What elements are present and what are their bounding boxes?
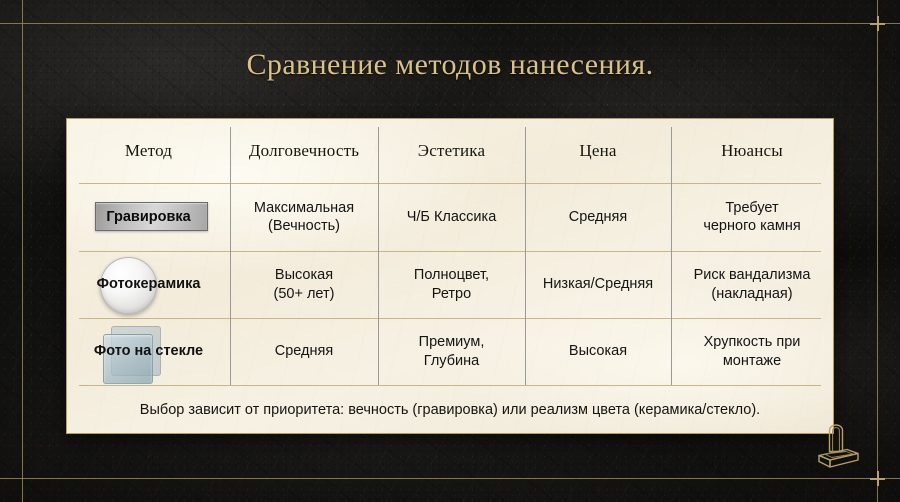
notes-line-2: черного камня — [703, 217, 800, 235]
aesthetics-cell: Ч/Б Классика — [378, 183, 525, 251]
table-footer-note: Выбор зависит от приоритета: вечность (г… — [67, 402, 833, 418]
column-header-notes: Нюансы — [671, 119, 833, 183]
price-cell: Средняя — [525, 183, 671, 251]
aesthetics-line-1: Полноцвет, — [414, 266, 489, 284]
method-cell-photoceramic: Фотокерамика — [67, 251, 230, 318]
frame-line-bottom — [0, 478, 900, 479]
aesthetics-line-1: Премиум, — [419, 333, 485, 351]
aesthetics-cell: Полноцвет, Ретро — [378, 251, 525, 318]
aesthetics-line-1: Ч/Б Классика — [407, 208, 497, 226]
price-cell: Низкая/Средняя — [525, 251, 671, 318]
column-header-aesthetics: Эстетика — [378, 119, 525, 183]
table-row: Гравировка Максимальная (Вечность) Ч/Б К… — [67, 183, 833, 251]
notes-cell: Риск вандализма (накладная) — [671, 251, 833, 318]
frame-line-top — [0, 23, 900, 24]
comparison-table-card: Метод Долговечность Эстетика Цена Нюансы… — [66, 118, 834, 434]
durability-line-1: Средняя — [275, 342, 333, 360]
durability-cell: Средняя — [230, 318, 378, 385]
notes-line-2: (накладная) — [694, 285, 811, 303]
table-header-row: Метод Долговечность Эстетика Цена Нюансы — [67, 119, 833, 183]
notes-line-1: Риск вандализма — [694, 266, 811, 284]
page-title: Сравнение методов нанесения. — [0, 48, 900, 82]
durability-line-2: (Вечность) — [254, 217, 354, 235]
method-cell-engraving: Гравировка — [67, 183, 230, 251]
aesthetics-line-2: Глубина — [419, 352, 485, 370]
plus-cross-marker-icon-bottom-right — [870, 471, 885, 486]
aesthetics-cell: Премиум, Глубина — [378, 318, 525, 385]
method-label: Фото на стекле — [94, 342, 203, 360]
method-label: Гравировка — [106, 208, 190, 226]
comparison-table: Метод Долговечность Эстетика Цена Нюансы… — [67, 119, 833, 433]
notes-cell: Требует черного камня — [671, 183, 833, 251]
notes-line-1: Хрупкость при — [704, 333, 801, 351]
durability-line-1: Максимальная — [254, 199, 354, 217]
durability-cell: Максимальная (Вечность) — [230, 183, 378, 251]
durability-line-1: Высокая — [274, 266, 335, 284]
notes-cell: Хрупкость при монтаже — [671, 318, 833, 385]
method-label: Фотокерамика — [97, 275, 201, 293]
price-cell: Высокая — [525, 318, 671, 385]
slide-canvas: Сравнение методов нанесения. Метод Долго… — [0, 0, 900, 502]
table-row: Фото на стекле Средняя Премиум, Глубина … — [67, 318, 833, 385]
notes-line-1: Требует — [703, 199, 800, 217]
column-header-price: Цена — [525, 119, 671, 183]
column-header-method: Метод — [67, 119, 230, 183]
table-row: Фотокерамика Высокая (50+ лет) Полноцвет… — [67, 251, 833, 318]
aesthetics-line-2: Ретро — [414, 285, 489, 303]
durability-cell: Высокая (50+ лет) — [230, 251, 378, 318]
durability-line-2: (50+ лет) — [274, 285, 335, 303]
table-footer-row: Выбор зависит от приоритета: вечность (г… — [67, 385, 833, 434]
notes-line-2: монтаже — [704, 352, 801, 370]
plus-cross-marker-icon-top-right — [870, 16, 885, 31]
method-cell-photo-on-glass: Фото на стекле — [67, 318, 230, 385]
column-header-durability: Долговечность — [230, 119, 378, 183]
